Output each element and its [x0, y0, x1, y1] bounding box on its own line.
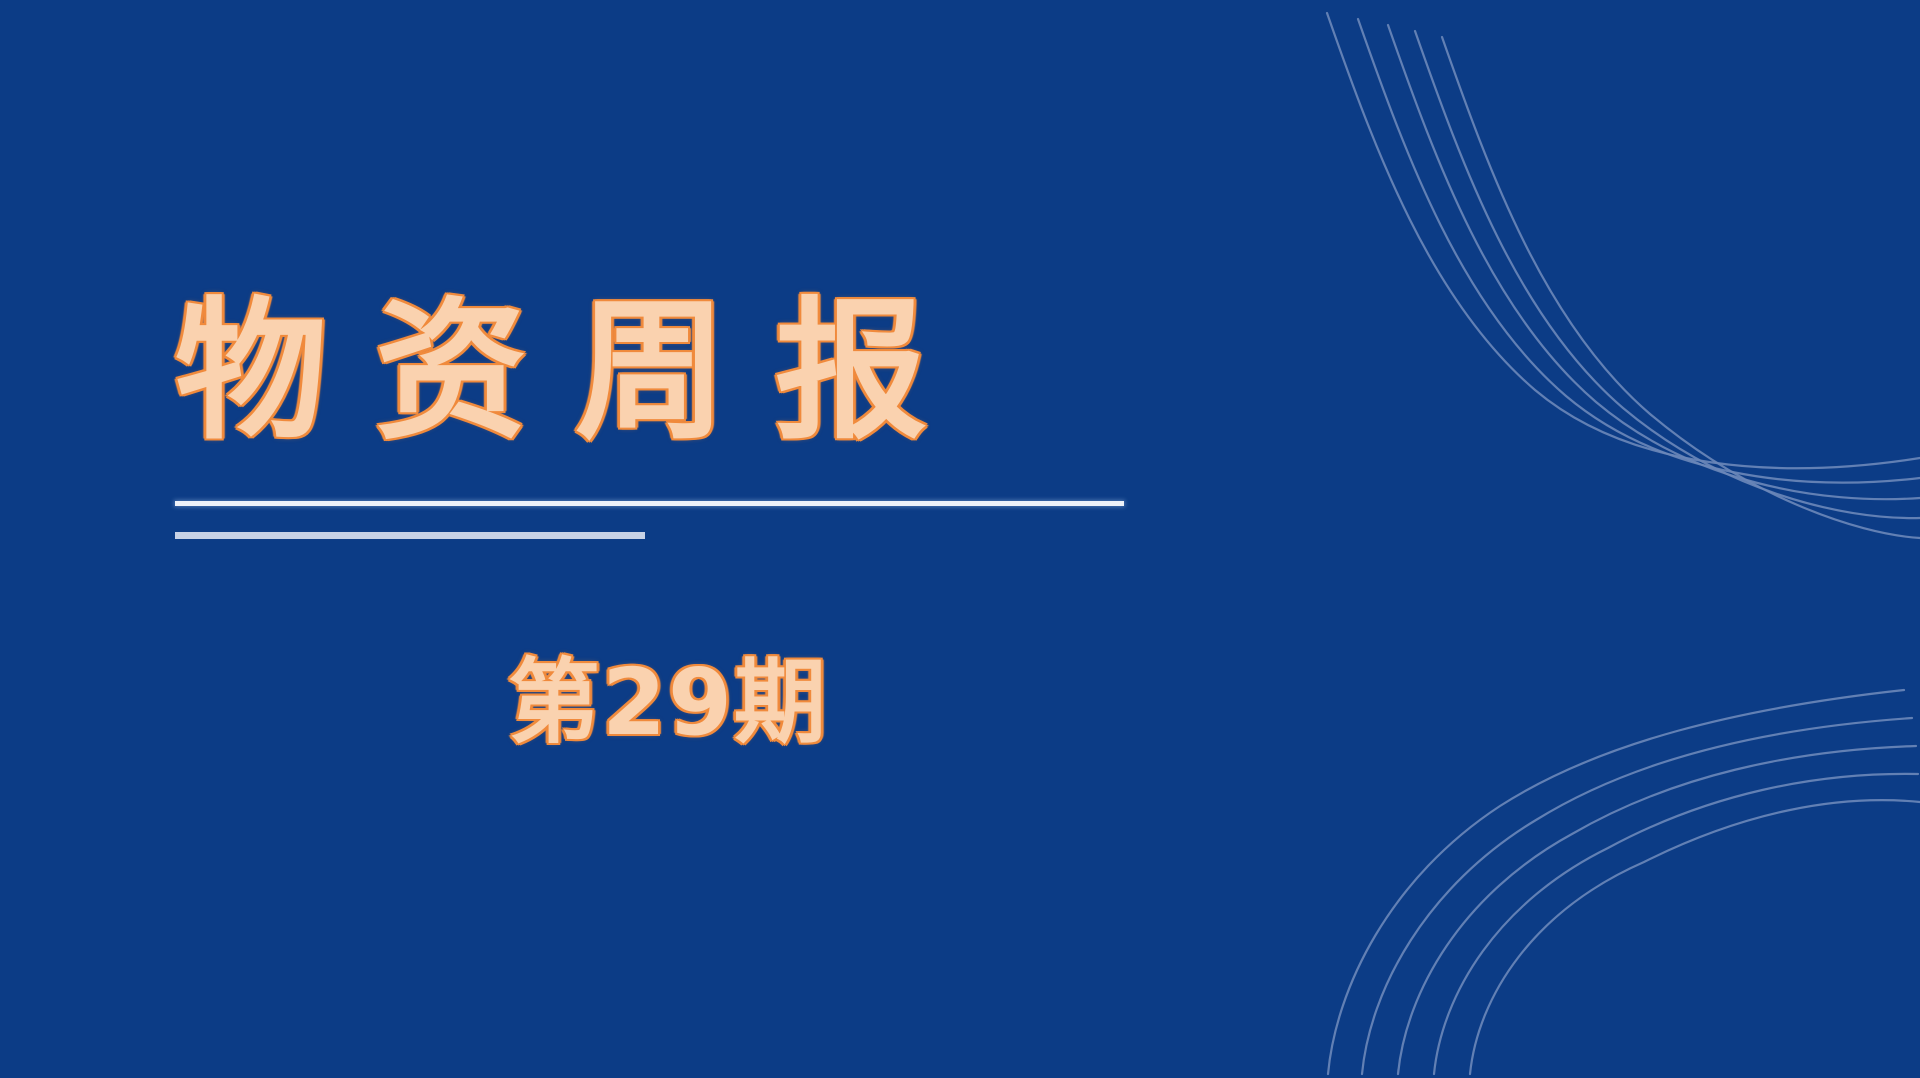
title-slide: 物资周报 第29期	[0, 0, 1920, 1078]
wave-lines-bottom-right-icon	[1240, 688, 1920, 1078]
issue-label: 第29期	[508, 644, 828, 762]
page-title: 物资周报	[175, 282, 1175, 461]
divider-secondary	[175, 532, 645, 539]
wave-lines-top-right-icon	[1280, 0, 1920, 570]
headline-block: 物资周报	[175, 282, 1175, 461]
divider-primary	[175, 501, 1124, 506]
